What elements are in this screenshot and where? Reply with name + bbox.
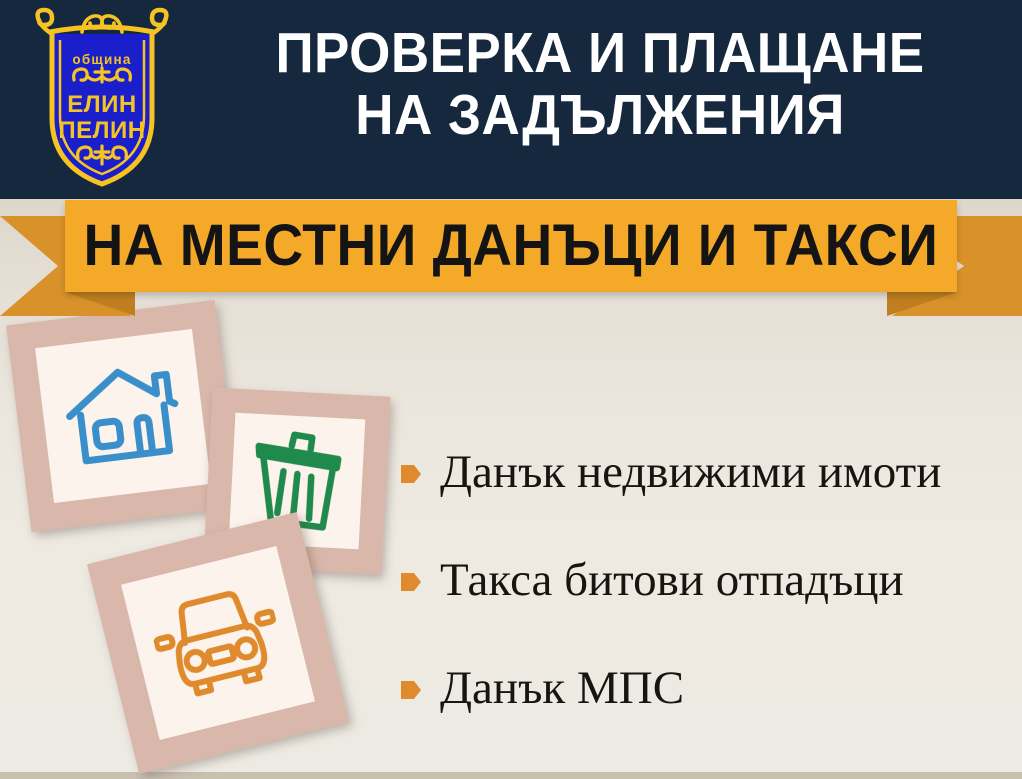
ribbon-text: НА МЕСТНИ ДАНЪЦИ И ТАКСИ (84, 217, 939, 275)
car-icon (145, 578, 290, 709)
house-icon (58, 357, 188, 475)
stamp-paper (35, 329, 211, 503)
page-title-line2: НА ЗАДЪЛЖЕНИЯ (219, 84, 982, 146)
arrow-bullet-icon (400, 570, 422, 594)
tax-type-list: Данък недвижими имоти Такса битови отпад… (400, 418, 1012, 742)
page-title: ПРОВЕРКА И ПЛАЩАНЕ НА ЗАДЪЛЖЕНИЯ (219, 22, 982, 146)
page-title-line1: ПРОВЕРКА И ПЛАЩАНЕ (219, 22, 982, 84)
ribbon-banner: НА МЕСТНИ ДАНЪЦИ И ТАКСИ (65, 200, 957, 292)
stamp-card-property (6, 300, 240, 532)
list-item[interactable]: Такса битови отпадъци (400, 526, 1012, 634)
list-item[interactable]: Данък недвижими имоти (400, 418, 1012, 526)
crest-name-line2: ПЕЛИН (58, 117, 145, 144)
arrow-bullet-icon (400, 462, 422, 486)
crest-small-label: община (72, 52, 131, 67)
subtitle-ribbon: НА МЕСТНИ ДАНЪЦИ И ТАКСИ (0, 196, 1022, 316)
list-item-label: Данък МПС (440, 662, 684, 714)
list-item-label: Данък недвижими имоти (440, 446, 941, 498)
coat-of-arms-icon: община ЕЛИН ПЕЛИН (22, 6, 182, 191)
page-header: община ЕЛИН ПЕЛИН ПРОВЕРКА И П (0, 0, 1022, 199)
list-item-label: Такса битови отпадъци (440, 554, 904, 606)
crest-name-line1: ЕЛИН (67, 91, 136, 118)
list-item[interactable]: Данък МПС (400, 634, 1012, 742)
arrow-bullet-icon (400, 678, 422, 702)
